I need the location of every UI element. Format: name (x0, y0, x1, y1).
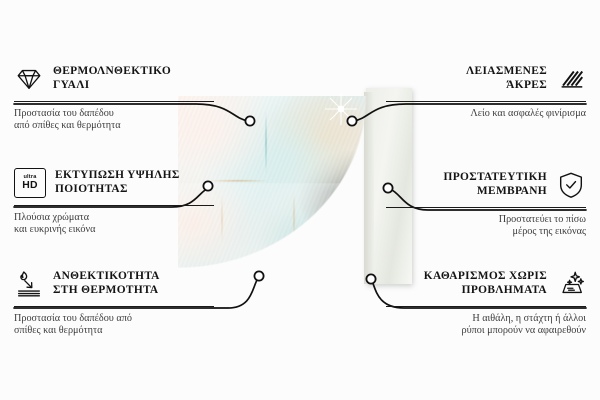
feature-title: ΑΝΘΕΚΤΙΚΟΤΗΤΑ ΣΤΗ ΘΕΡΜΟΤΗΤΑ (53, 270, 160, 297)
feature-title-line: ΓΥΑΛΙ (53, 79, 171, 93)
feature-title-line: ΑΝΘΕΚΤΙΚΟΤΗΤΑ (53, 270, 160, 284)
feature-title: ΘΕΡΜΟΛΝΘΕΚΤΙΚΟ ΓΥΑΛΙ (53, 65, 171, 92)
feature-header: ultra HD ΕΚΤΥΠΩΣΗ ΥΨΗΛΗΣ ΠΟΙΟΤΗΤΑΣ (14, 166, 214, 200)
feature-divider (14, 101, 214, 102)
feature-title-line: ΘΕΡΜΟΛΝΘΕΚΤΙΚΟ (53, 65, 171, 79)
feature-title-line: ΕΚΤΥΠΩΣΗ ΥΨΗΛΗΣ (55, 169, 180, 183)
feature-title-line: ΚΑΘΑΡΙΣΜΟΣ ΧΩΡΙΣ (424, 270, 547, 284)
feature-protective-membrane: ΠΡΟΣΤΑΤΕΥΤΙΚΗ ΜΕΜΒΡΑΝΗ Προστατεύει το πί… (386, 168, 586, 239)
feature-divider (14, 306, 214, 307)
diamond-icon (14, 64, 44, 94)
hatched-triangle-icon (556, 64, 586, 94)
sparkle-clean-icon (556, 269, 586, 299)
feature-divider (14, 205, 214, 206)
feature-high-quality-print: ultra HD ΕΚΤΥΠΩΣΗ ΥΨΗΛΗΣ ΠΟΙΟΤΗΤΑΣ Πλούσ… (14, 166, 214, 237)
feature-description-line: μέρος της εικόνας (386, 226, 586, 238)
feature-description: Λείο και ασφαλές φινίρισμα (386, 108, 586, 120)
feature-description: Προστασία του δαπέδου από σπίθες και θερ… (14, 313, 214, 338)
feature-title-line: ΣΤΗ ΘΕΡΜΟΤΗΤΑ (53, 284, 160, 298)
feature-header: ΛΕΙΑΣΜΕΝΕΣ ΆΚΡΕΣ (386, 62, 586, 96)
feature-description-line: Προστασία του δαπέδου από (14, 313, 214, 325)
feature-heat-resistant-glass: ΘΕΡΜΟΛΝΘΕΚΤΙΚΟ ΓΥΑΛΙ Προστασία του δαπέδ… (14, 62, 214, 133)
feature-description: Πλούσια χρώματα και ευκρινής εικόνα (14, 212, 214, 237)
feature-title-line: ΠΡΟΣΤΑΤΕΥΤΙΚΗ (444, 171, 547, 185)
feature-description-line: και ευκρινής εικόνα (14, 224, 214, 236)
feature-title-line: ΠΟΙΟΤΗΤΑΣ (55, 183, 180, 197)
feature-heat-durability: ΑΝΘΕΚΤΙΚΟΤΗΤΑ ΣΤΗ ΘΕΡΜΟΤΗΤΑ Προστασία το… (14, 267, 214, 338)
feature-polished-edges: ΛΕΙΑΣΜΕΝΕΣ ΆΚΡΕΣ Λείο και ασφαλές φινίρι… (386, 62, 586, 120)
feature-description: Η αιθάλη, η στάχτη ή άλλοι ρύποι μπορούν… (386, 313, 586, 338)
feature-description-line: από σπίθες και θερμότητα (14, 120, 214, 132)
feature-divider (386, 306, 586, 307)
feature-title-line: ΜΕΜΒΡΑΝΗ (444, 185, 547, 199)
feature-description-line: Η αιθάλη, η στάχτη ή άλλοι (386, 313, 586, 325)
flame-deflect-icon (14, 269, 44, 299)
feature-title-line: ΆΚΡΕΣ (466, 79, 547, 93)
feature-divider (386, 207, 586, 208)
feature-title: ΛΕΙΑΣΜΕΝΕΣ ΆΚΡΕΣ (466, 65, 547, 92)
feature-description-line: σπίθες και θερμότητα (14, 325, 214, 337)
feature-description-line: Προστατεύει το πίσω (386, 214, 586, 226)
ultra-hd-bottom-label: HD (22, 181, 37, 191)
feature-description: Προστασία του δαπέδου από σπίθες και θερ… (14, 108, 214, 133)
feature-header: ΠΡΟΣΤΑΤΕΥΤΙΚΗ ΜΕΜΒΡΑΝΗ (386, 168, 586, 202)
shield-check-icon (556, 170, 586, 200)
feature-title: ΕΚΤΥΠΩΣΗ ΥΨΗΛΗΣ ΠΟΙΟΤΗΤΑΣ (55, 169, 180, 196)
feature-title-line: ΠΡΟΒΛΗΜΑΤΑ (424, 284, 547, 298)
feature-title: ΠΡΟΣΤΑΤΕΥΤΙΚΗ ΜΕΜΒΡΑΝΗ (444, 171, 547, 198)
feature-header: ΘΕΡΜΟΛΝΘΕΚΤΙΚΟ ΓΥΑΛΙ (14, 62, 214, 96)
feature-description-line: Λείο και ασφαλές φινίρισμα (386, 108, 586, 120)
feature-title: ΚΑΘΑΡΙΣΜΟΣ ΧΩΡΙΣ ΠΡΟΒΛΗΜΑΤΑ (424, 270, 547, 297)
infographic-stage: ΘΕΡΜΟΛΝΘΕΚΤΙΚΟ ΓΥΑΛΙ Προστασία του δαπέδ… (0, 0, 600, 400)
feature-easy-cleaning: ΚΑΘΑΡΙΣΜΟΣ ΧΩΡΙΣ ΠΡΟΒΛΗΜΑΤΑ Η αιθάλη, η … (386, 267, 586, 338)
feature-description-line: Πλούσια χρώματα (14, 212, 214, 224)
feature-description: Προστατεύει το πίσω μέρος της εικόνας (386, 214, 586, 239)
ultra-hd-icon: ultra HD (14, 168, 46, 198)
feature-header: ΚΑΘΑΡΙΣΜΟΣ ΧΩΡΙΣ ΠΡΟΒΛΗΜΑΤΑ (386, 267, 586, 301)
feature-description-line: Προστασία του δαπέδου (14, 108, 214, 120)
feature-header: ΑΝΘΕΚΤΙΚΟΤΗΤΑ ΣΤΗ ΘΕΡΜΟΤΗΤΑ (14, 267, 214, 301)
feature-title-line: ΛΕΙΑΣΜΕΝΕΣ (466, 65, 547, 79)
feature-divider (386, 101, 586, 102)
feature-description-line: ρύποι μπορούν να αφαιρεθούν (386, 325, 586, 337)
